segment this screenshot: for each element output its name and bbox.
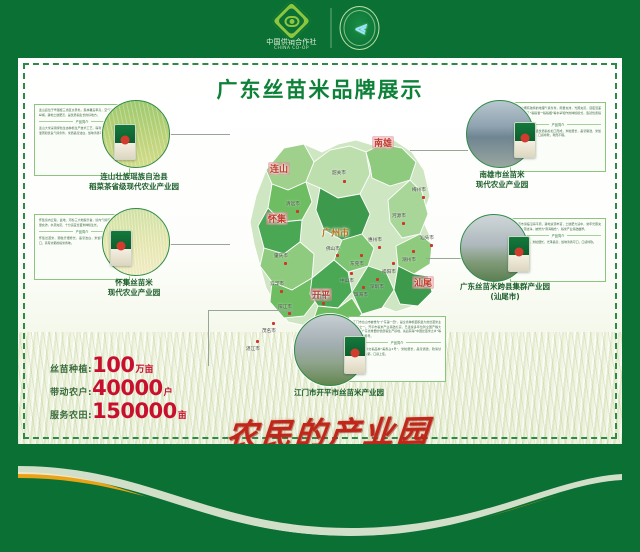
- stat-row: 服务农田: 150000 亩: [50, 400, 240, 422]
- rice-package-lianshan: [114, 124, 136, 160]
- callout-label-line2: 稻菜茶省级现代农业产业园: [70, 182, 198, 192]
- rice-package-huaiji: [110, 230, 132, 266]
- callout-sep-label: 产品简介: [552, 122, 565, 127]
- page-title: 广东丝苗米品牌展示: [18, 74, 622, 104]
- callout-label-line2: (汕尾市): [430, 292, 580, 302]
- calligraphy-slogan: 农民的产业园: [222, 406, 436, 444]
- city-label-huizhou: 惠州市: [368, 237, 382, 243]
- city-label-zhanjiang: 湛江市: [246, 346, 260, 352]
- city-dot: [378, 246, 381, 249]
- city-dot: [343, 180, 346, 183]
- city-label-heyuan: 河源市: [392, 213, 406, 219]
- city-dot: [336, 254, 339, 257]
- footer-wave-svg: [0, 444, 640, 552]
- city-dot: [256, 340, 259, 343]
- stat-value: 40000: [92, 377, 163, 399]
- callout-label-line1: 南雄市丝苗米: [446, 170, 558, 180]
- callout-label-line2: 现代农业产业园: [446, 180, 558, 190]
- emblem-glyph: ⪡: [354, 19, 365, 38]
- city-dot: [392, 262, 395, 265]
- leader-line-nanxiong: [410, 150, 468, 151]
- leader-line-kaiping-h: [208, 310, 294, 311]
- city-dot: [402, 222, 405, 225]
- callout-body: 江门市台山市被誉为"广东第一田"，是全省种植面积最大的丝苗米主产区之一。开平市稻…: [353, 320, 441, 338]
- coop-logo-en: CHINA CO-OP: [274, 47, 309, 52]
- city-label-shenzhen: 深圳市: [370, 284, 384, 290]
- city-dot: [412, 250, 415, 253]
- city-label-maoming: 茂名市: [262, 328, 276, 334]
- callout-label-line1: 连山壮族瑶族自治县: [70, 172, 198, 182]
- callout-label-lianshan: 连山壮族瑶族自治县 稻菜茶省级现代农业产业园: [70, 172, 198, 192]
- callout-label-nanxiong: 南雄市丝苗米 现代农业产业园: [446, 170, 558, 190]
- city-dot: [376, 278, 379, 281]
- city-label-chaozhou: 潮州市: [402, 257, 416, 263]
- city-label-foshan: 佛山市: [326, 246, 340, 252]
- stat-unit: 万亩: [135, 362, 153, 375]
- stat-unit: 亩: [178, 408, 187, 421]
- callout-separator: 产品简介: [353, 340, 441, 345]
- leader-line-huaiji: [168, 244, 230, 245]
- guangdong-grain-emblem-icon: ⪡: [340, 6, 380, 50]
- callout-sep-label: 产品简介: [76, 119, 89, 124]
- stat-row: 带动农户: 40000 户: [50, 377, 240, 399]
- callout-label-kaiping: 江门市开平市丝苗米产业园: [264, 388, 414, 398]
- callout-label-line1: 怀集丝苗米: [78, 278, 190, 288]
- city-label-qingyuan: 清远市: [286, 201, 300, 207]
- rice-package-shanwei: [508, 236, 530, 272]
- stat-value: 150000: [92, 400, 177, 422]
- poster-card: 广东丝苗米品牌展示: [18, 58, 622, 444]
- city-label-shaoguan: 韶关市: [332, 170, 346, 176]
- callout-sep-label: 产品简介: [76, 229, 89, 234]
- callout-photo-lianshan: [102, 100, 170, 168]
- city-dot: [280, 290, 283, 293]
- callout-label-line2: 现代农业产业园: [78, 288, 190, 298]
- stat-label: 服务农田:: [50, 408, 92, 421]
- stat-label: 丝苗种植:: [50, 362, 92, 375]
- callout-label-line1: 广东丝苗米跨县集群产业园: [430, 282, 580, 292]
- callout-body: 汕尾市濒临沿海平原，耕地资源丰富，土壤肥力适中，常年光照充足，水源洁净，被誉为"…: [515, 222, 601, 231]
- city-label-zhuhai: 珠海市: [354, 292, 368, 298]
- city-dot: [322, 302, 325, 305]
- map-label-huaiji: 怀集: [266, 212, 288, 225]
- stat-label: 带动农户:: [50, 385, 92, 398]
- city-dot: [422, 196, 425, 199]
- city-label-shantou: 汕头市: [420, 235, 434, 241]
- callout-label-huaiji: 怀集丝苗米 现代农业产业园: [78, 278, 190, 298]
- map-label-nanxiong: 南雄: [372, 136, 394, 149]
- coop-diamond-icon: [275, 4, 309, 38]
- city-label-zhaoqing: 肇庆市: [274, 253, 288, 259]
- callout-sep-label: 产品简介: [391, 340, 404, 345]
- map-label-lianshan: 连山: [268, 162, 290, 175]
- leader-line-lianshan: [168, 134, 230, 135]
- stat-value: 100: [92, 354, 134, 376]
- city-label-meizhou: 梅州市: [412, 187, 426, 193]
- rice-package-kaiping: [344, 336, 366, 374]
- map-label-guangzhou: 广州市: [322, 226, 349, 239]
- callout-label-line1: 江门市开平市丝苗米产业园: [264, 388, 414, 398]
- rice-package-nanxiong: [514, 122, 536, 158]
- city-dot: [350, 272, 353, 275]
- city-label-zhongshan: 中山市: [340, 278, 354, 284]
- city-dot: [284, 262, 287, 265]
- logo-group: 中国供销合作社 CHINA CO-OP ⪡: [261, 2, 380, 54]
- china-coop-logo: 中国供销合作社 CHINA CO-OP: [261, 4, 323, 52]
- poster-footer: [0, 444, 640, 552]
- logo-divider: [331, 8, 332, 48]
- city-dot: [362, 286, 365, 289]
- city-dot: [360, 254, 363, 257]
- city-label-jieyang: 揭阳市: [382, 269, 396, 275]
- city-dot: [272, 322, 275, 325]
- poster-header: 中国供销合作社 CHINA CO-OP ⪡: [0, 0, 640, 56]
- city-label-dongguan: 东莞市: [350, 261, 364, 267]
- stat-row: 丝苗种植: 100 万亩: [50, 354, 240, 376]
- stat-unit: 户: [164, 385, 173, 398]
- city-dot: [288, 312, 291, 315]
- statistics-block: 丝苗种植: 100 万亩 带动农户: 40000 户 服务农田: 150000 …: [50, 354, 240, 423]
- city-label-yunfu: 云浮市: [270, 281, 284, 287]
- callout-label-shanwei: 广东丝苗米跨县集群产业园 (汕尾市): [430, 282, 580, 302]
- callout-sep-label: 产品简介: [552, 233, 565, 238]
- city-dot: [430, 244, 433, 247]
- city-label-jiangmen: 江门市: [312, 294, 326, 300]
- city-dot: [296, 210, 299, 213]
- callout-body-2: 现选优良杂交稻品种"美香占2号"，米粒细长，晶莹通透，软滑甘香，饭味浓郁，口感上…: [353, 347, 441, 356]
